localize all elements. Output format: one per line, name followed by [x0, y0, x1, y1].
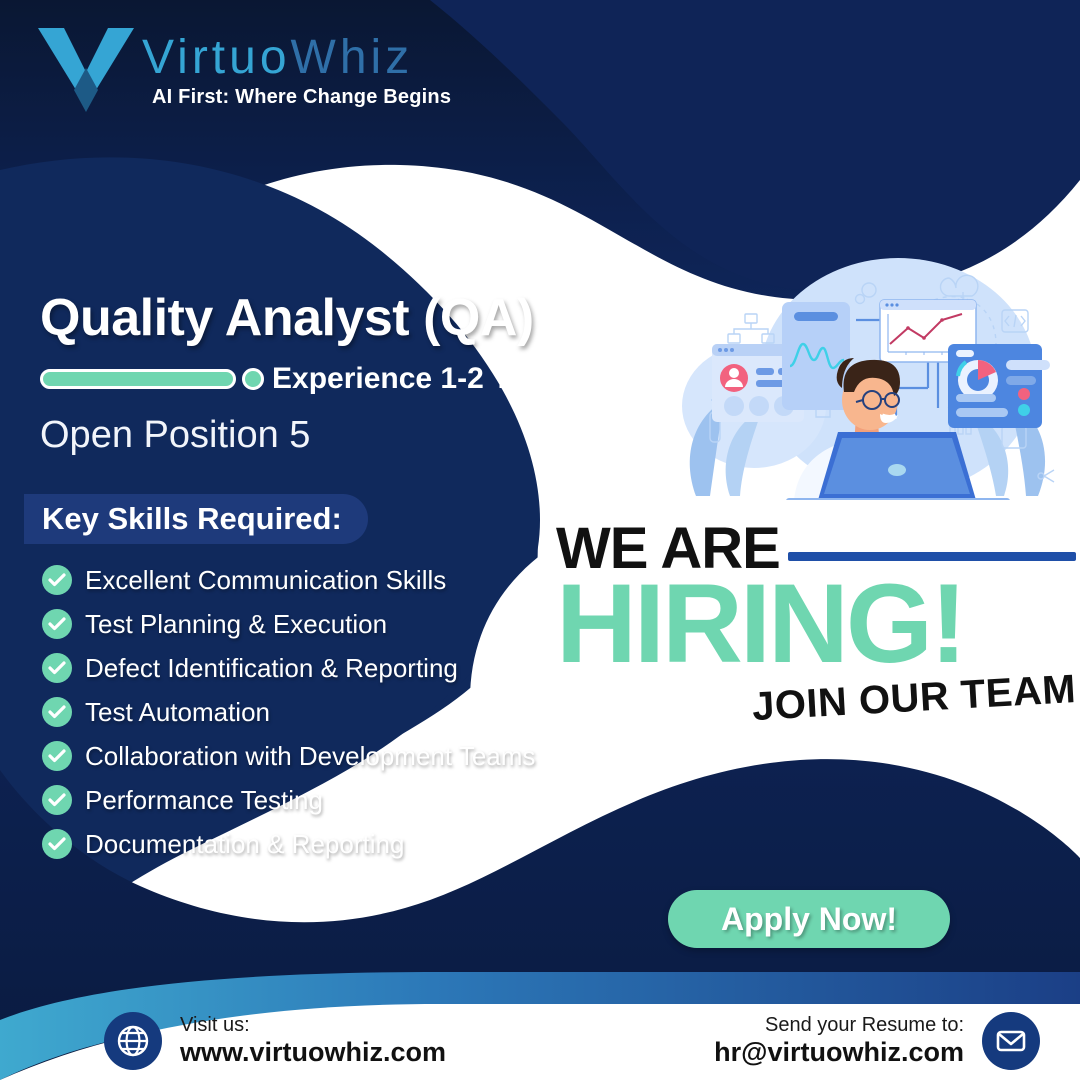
skill-label: Performance Testing — [85, 785, 323, 816]
check-circle-icon — [42, 697, 72, 727]
apply-now-button[interactable]: Apply Now! — [668, 890, 950, 948]
brand-wordmark: VirtuoWhiz — [142, 30, 413, 85]
brand-name-part1: Virtuo — [142, 31, 291, 84]
brand-name-part2: Whiz — [291, 31, 414, 84]
experience-label: Experience 1-2 Year — [272, 362, 555, 396]
skill-label: Documentation & Reporting — [85, 829, 404, 860]
email-value[interactable]: hr@virtuowhiz.com — [714, 1037, 964, 1068]
experience-dot-icon — [242, 368, 264, 390]
open-positions-label: Open Position 5 — [40, 414, 310, 457]
envelope-icon — [982, 1012, 1040, 1070]
hiring-headline: HIRING! — [556, 572, 1076, 675]
skill-label: Defect Identification & Reporting — [85, 653, 458, 684]
skill-label: Test Planning & Execution — [85, 609, 387, 640]
apply-now-label: Apply Now! — [721, 901, 897, 938]
experience-bar — [40, 369, 236, 389]
list-item: Collaboration with Development Teams — [42, 734, 662, 778]
hiring-block: WE ARE HIRING! JOIN OUR TEAM — [556, 520, 1076, 712]
check-circle-icon — [42, 785, 72, 815]
check-circle-icon — [42, 741, 72, 771]
check-circle-icon — [42, 653, 72, 683]
qa-analyst-at-laptop-illustration — [666, 248, 1066, 500]
globe-icon — [104, 1012, 162, 1070]
check-circle-icon — [42, 609, 72, 639]
virtuowhiz-w-logo-icon — [34, 24, 138, 116]
experience-row: Experience 1-2 Year — [40, 362, 555, 396]
skill-label: Test Automation — [85, 697, 270, 728]
check-circle-icon — [42, 565, 72, 595]
we-are-rule — [788, 552, 1076, 561]
skill-label: Collaboration with Development Teams — [85, 741, 535, 772]
footer-website[interactable]: Visit us: www.virtuowhiz.com — [104, 1012, 446, 1070]
page-title: Quality Analyst (QA) — [40, 288, 534, 348]
brand-tagline: AI First: Where Change Begins — [152, 86, 451, 109]
list-item: Documentation & Reporting — [42, 822, 662, 866]
footer: Visit us: www.virtuowhiz.com Send your R… — [0, 1004, 1080, 1080]
list-item: Performance Testing — [42, 778, 662, 822]
check-circle-icon — [42, 829, 72, 859]
skills-heading-badge: Key Skills Required: — [24, 494, 368, 544]
hiring-poster: VirtuoWhiz AI First: Where Change Begins… — [0, 0, 1080, 1080]
website-value[interactable]: www.virtuowhiz.com — [180, 1037, 446, 1068]
email-label: Send your Resume to: — [765, 1014, 964, 1037]
skills-heading: Key Skills Required: — [42, 501, 342, 537]
footer-email[interactable]: Send your Resume to: hr@virtuowhiz.com — [714, 1012, 1040, 1070]
skill-label: Excellent Communication Skills — [85, 565, 446, 596]
website-label: Visit us: — [180, 1014, 250, 1037]
brand-logo[interactable]: VirtuoWhiz AI First: Where Change Begins — [34, 24, 454, 116]
